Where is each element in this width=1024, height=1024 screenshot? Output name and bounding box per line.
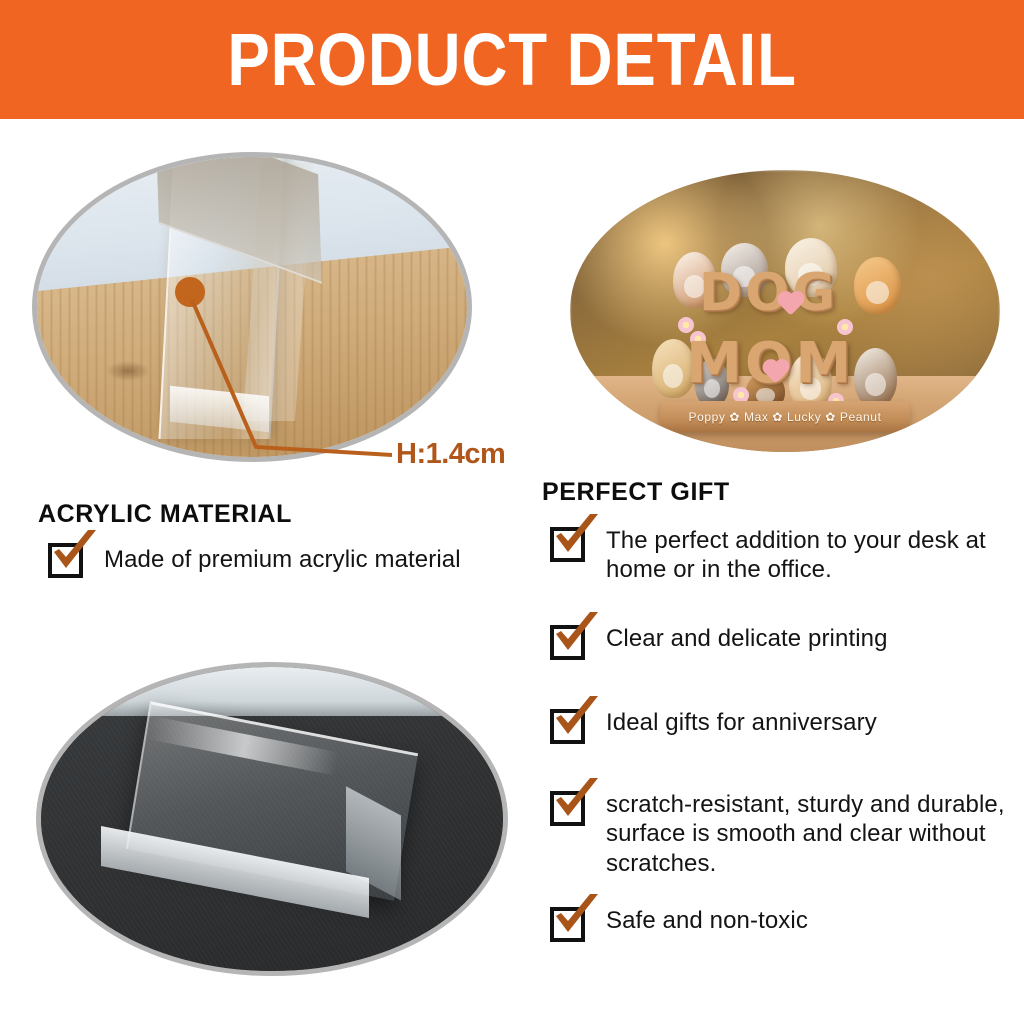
- checkmark-icon: [548, 612, 602, 658]
- header-banner: PRODUCT DETAIL: [0, 0, 1024, 119]
- checkbox-checked[interactable]: [550, 625, 585, 660]
- acrylic-edge-on-wood-photo: [32, 152, 472, 462]
- slate-surface-scene: [41, 667, 503, 971]
- dog-mom-acrylic-sign-photo: DOG MOM Poppy ✿ Max ✿ Lucky ✿ Peanut: [570, 170, 1000, 452]
- checklist-item-label: Safe and non-toxic: [606, 905, 808, 935]
- checkmark-icon: [548, 894, 602, 940]
- dog-sign-scene: DOG MOM Poppy ✿ Max ✿ Lucky ✿ Peanut: [570, 170, 1000, 452]
- puppy-figurine: [854, 348, 897, 407]
- acrylic-block-on-slate-photo: [36, 662, 508, 976]
- checklist-item[interactable]: The perfect addition to your desk at hom…: [550, 525, 1000, 585]
- checkmark-icon: [46, 530, 100, 576]
- wood-grain-knot: [106, 361, 150, 381]
- section-heading-acrylic-material: ACRYLIC MATERIAL: [38, 500, 292, 529]
- checklist-item[interactable]: Safe and non-toxic: [550, 905, 1000, 942]
- checklist-item-label: Made of premium acrylic material: [104, 544, 461, 574]
- checkmark-icon: [548, 514, 602, 560]
- checkbox-checked[interactable]: [48, 543, 83, 578]
- sign-word-dog: DOG: [699, 263, 838, 323]
- checklist-item[interactable]: Ideal gifts for anniversary: [550, 707, 1000, 744]
- checkmark-icon: [548, 778, 602, 824]
- checkmark-icon: [548, 696, 602, 742]
- sign-base-plaque: Poppy ✿ Max ✿ Lucky ✿ Peanut: [660, 401, 909, 432]
- checklist-item[interactable]: Clear and delicate printing: [550, 623, 1000, 660]
- page-title: PRODUCT DETAIL: [227, 23, 796, 97]
- checklist-item[interactable]: Made of premium acrylic material: [48, 541, 508, 578]
- puppy-figurine: [854, 257, 901, 313]
- dimension-label: H:1.4cm: [396, 438, 505, 471]
- checklist-item-label: Ideal gifts for anniversary: [606, 707, 877, 737]
- section-heading-perfect-gift: PERFECT GIFT: [542, 478, 730, 507]
- checkbox-checked[interactable]: [550, 791, 585, 826]
- checkbox-checked[interactable]: [550, 709, 585, 744]
- product-detail-infographic: PRODUCT DETAIL: [0, 0, 1024, 1024]
- bright-background-strip: [41, 667, 503, 716]
- pet-names-text: Poppy ✿ Max ✿ Lucky ✿ Peanut: [660, 410, 909, 424]
- wood-table-scene: [37, 157, 467, 457]
- checkbox-checked[interactable]: [550, 907, 585, 942]
- checklist-item[interactable]: scratch-resistant, sturdy and durable, s…: [550, 789, 1010, 878]
- checklist-item-label: Clear and delicate printing: [606, 623, 888, 653]
- checklist-item-label: The perfect addition to your desk at hom…: [606, 525, 1000, 585]
- checklist-item-label: scratch-resistant, sturdy and durable, s…: [606, 789, 1010, 878]
- checkbox-checked[interactable]: [550, 527, 585, 562]
